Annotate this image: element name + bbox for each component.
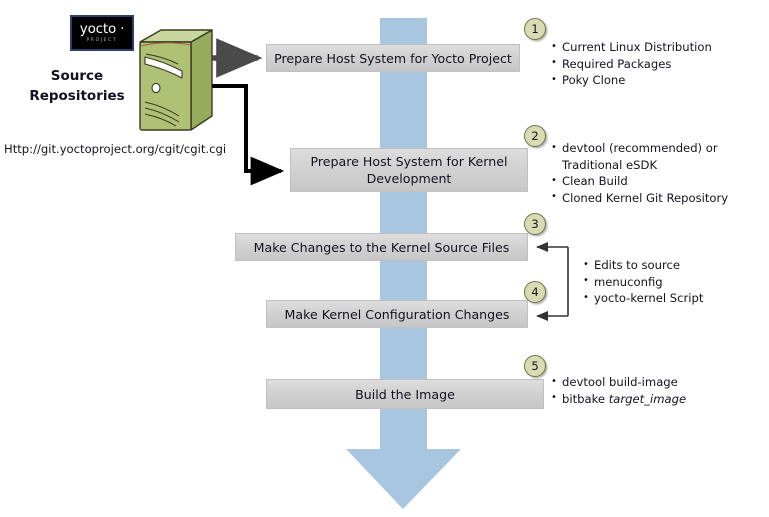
step-badge-1: 1	[524, 18, 546, 40]
process-box-prepare-host-yocto[interactable]: Prepare Host System for Yocto Project	[266, 44, 520, 72]
process-box-5-label: Build the Image	[355, 386, 455, 403]
step-badge-4: 4	[524, 281, 546, 303]
step-badge-2-number: 2	[531, 129, 538, 143]
annotation-list-step-2: devtool (recommended) or Traditional eSD…	[551, 140, 763, 206]
process-box-2-label-line1: Prepare Host System for Kernel	[311, 154, 508, 169]
process-box-2-label-line2: Development	[367, 171, 452, 186]
arrow-server-to-step2	[212, 86, 281, 171]
source-repositories-label-line2: Repositories	[18, 86, 136, 106]
list-item: Clean Build	[551, 173, 763, 190]
list-item: Edits to source	[583, 257, 763, 274]
annotation-list-steps-3-4: Edits to source menuconfig yocto-kernel …	[583, 257, 763, 307]
server-tower-icon	[132, 26, 218, 144]
list-item-text-italic: target_image	[609, 392, 686, 406]
source-repositories-label: Source Repositories	[18, 66, 136, 106]
step-badge-4-number: 4	[531, 285, 538, 299]
list-item-line1: devtool (recommended) or	[562, 141, 718, 155]
arrow-bracket-to-steps-3-and-4	[537, 247, 568, 316]
step-badge-2: 2	[524, 125, 546, 147]
list-item-text: bitbake	[562, 392, 609, 406]
annotation-list-step-1: Current Linux Distribution Required Pack…	[551, 39, 761, 89]
diagram-canvas: yocto · PROJECT Source Repositories Http…	[0, 0, 769, 517]
list-item: yocto-kernel Script	[583, 290, 763, 307]
process-box-make-kernel-source-changes[interactable]: Make Changes to the Kernel Source Files	[235, 233, 528, 261]
list-item: Required Packages	[551, 56, 761, 73]
yocto-project-logo: yocto · PROJECT	[70, 15, 134, 51]
process-box-4-label: Make Kernel Configuration Changes	[285, 306, 510, 323]
list-item: Cloned Kernel Git Repository	[551, 190, 763, 207]
list-item: Poky Clone	[551, 72, 761, 89]
process-box-3-label: Make Changes to the Kernel Source Files	[254, 239, 510, 256]
step-badge-3-number: 3	[531, 217, 538, 231]
process-box-2-label: Prepare Host System for Kernel Developme…	[311, 153, 508, 187]
yocto-logo-subtext: PROJECT	[87, 39, 118, 43]
step-badge-1-number: 1	[531, 22, 538, 36]
step-badge-5-number: 5	[531, 359, 538, 373]
annotation-list-step-5: devtool build-image bitbake target_image	[551, 374, 751, 407]
step-badge-5: 5	[524, 355, 546, 377]
list-item: menuconfig	[583, 274, 763, 291]
step-badge-3: 3	[524, 213, 546, 235]
process-box-1-label: Prepare Host System for Yocto Project	[274, 50, 512, 67]
list-item: Current Linux Distribution	[551, 39, 761, 56]
yocto-logo-wordmark: yocto ·	[80, 23, 124, 37]
list-item-line2: Traditional eSDK	[562, 157, 763, 174]
list-item-text: devtool build-image	[562, 375, 678, 389]
source-repositories-label-line1: Source	[18, 66, 136, 86]
process-box-build-the-image[interactable]: Build the Image	[266, 379, 544, 409]
process-box-make-kernel-config-changes[interactable]: Make Kernel Configuration Changes	[266, 300, 528, 328]
source-repositories-url: Http://git.yoctoproject.org/cgit/cgit.cg…	[4, 142, 226, 156]
list-item: bitbake target_image	[551, 391, 751, 408]
list-item: devtool (recommended) or Traditional eSD…	[551, 140, 763, 173]
list-item: devtool build-image	[551, 374, 751, 391]
process-box-prepare-host-kernel[interactable]: Prepare Host System for Kernel Developme…	[290, 148, 528, 192]
